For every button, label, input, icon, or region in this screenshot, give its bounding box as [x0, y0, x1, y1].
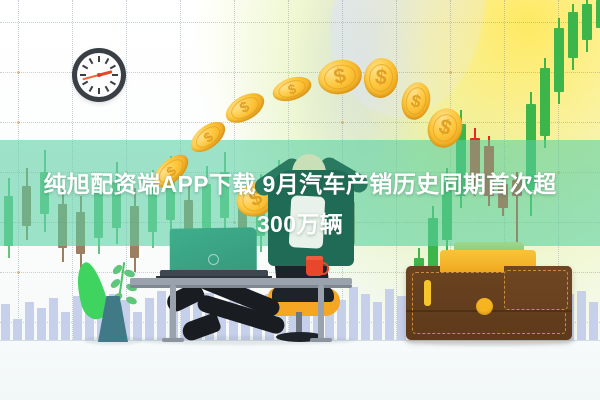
coffee-mug-icon [306, 258, 323, 276]
desk-leg [170, 285, 176, 341]
banner-canvas: $$$$$$$$$ [0, 0, 600, 400]
desk-leg [318, 285, 324, 341]
headline-line-1: 纯旭配资端APP下载 9月汽车产销历史同期首次超 [43, 171, 556, 197]
desk-foot [310, 338, 332, 342]
wallet-icon [406, 266, 572, 340]
wallet-clasp-button [476, 298, 493, 315]
wallet-stitching-flap [504, 270, 568, 310]
desk-foot [162, 338, 184, 342]
desk-surface [130, 278, 352, 285]
plant-leaf [125, 295, 138, 307]
wallet-card-tab [424, 280, 431, 306]
chair-seat-top [272, 286, 334, 302]
mug-rim [306, 256, 323, 260]
laptop-logo [208, 254, 219, 265]
banner-headline: 纯旭配资端APP下载 9月汽车产销历史同期首次超 300万辆 [0, 164, 600, 244]
headline-line-2: 300万辆 [6, 204, 594, 244]
